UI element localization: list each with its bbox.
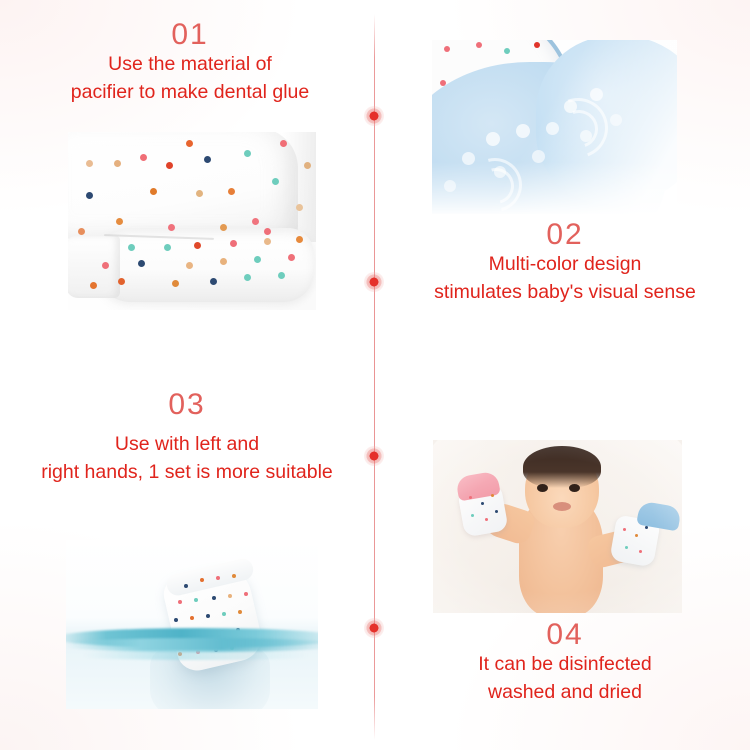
- timeline-dot-1: [364, 106, 384, 126]
- section-04-image: [433, 440, 682, 613]
- timeline-dot-2: [364, 272, 384, 292]
- section-04-text: 04 It can be disinfected washed and drie…: [410, 618, 720, 706]
- section-03-image: [66, 540, 318, 709]
- section-03-line-1: Use with left and: [12, 431, 362, 459]
- section-04-line-2: washed and dried: [410, 679, 720, 707]
- section-03-text: 03 Use with left and right hands, 1 set …: [12, 388, 362, 486]
- timeline-dot-3: [364, 446, 384, 466]
- section-01-line-2: pacifier to make dental glue: [20, 79, 360, 107]
- section-01-text: 01 Use the material of pacifier to make …: [20, 18, 360, 106]
- section-02: 02 Multi-color design stimulates baby's …: [400, 218, 730, 306]
- section-03: 03 Use with left and right hands, 1 set …: [12, 388, 362, 486]
- section-04-number: 04: [410, 618, 720, 651]
- timeline-dot-4: [364, 618, 384, 638]
- section-01-line-1: Use the material of: [20, 51, 360, 79]
- section-02-image: [432, 40, 677, 214]
- section-01: 01 Use the material of pacifier to make …: [20, 18, 360, 106]
- section-01-image: [68, 132, 316, 310]
- section-02-line-2: stimulates baby's visual sense: [400, 279, 730, 307]
- section-02-text: 02 Multi-color design stimulates baby's …: [400, 218, 730, 306]
- section-04-line-1: It can be disinfected: [410, 651, 720, 679]
- section-03-line-2: right hands, 1 set is more suitable: [12, 459, 362, 487]
- section-04: 04 It can be disinfected washed and drie…: [410, 618, 720, 706]
- section-02-number: 02: [400, 218, 730, 251]
- section-02-line-1: Multi-color design: [400, 251, 730, 279]
- section-01-number: 01: [20, 18, 360, 51]
- section-03-number: 03: [12, 388, 362, 421]
